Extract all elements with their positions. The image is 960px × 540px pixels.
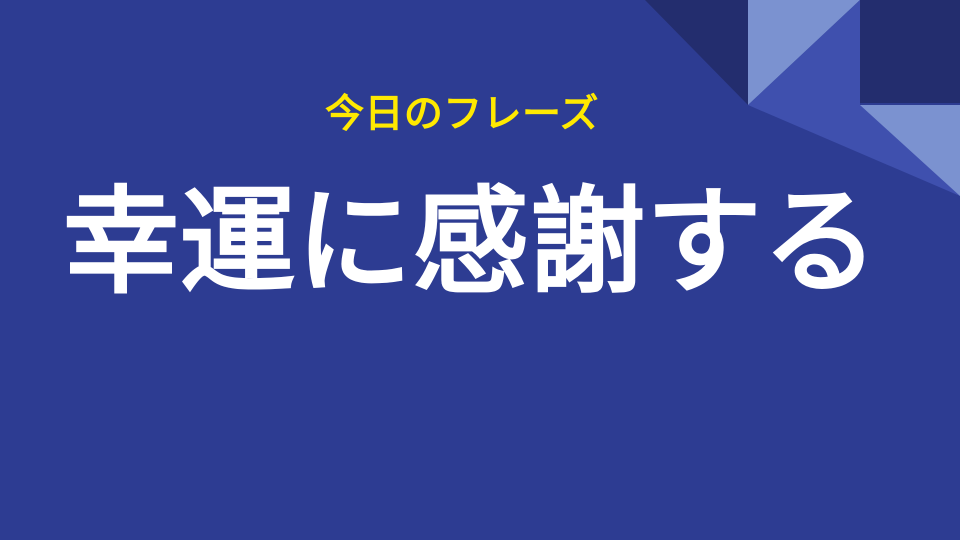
headline-text: 幸運に感謝する xyxy=(63,182,879,305)
text-stack: 今日のフレーズ 幸運に感謝する xyxy=(0,0,960,540)
subtitle-text: 今日のフレーズ xyxy=(325,93,599,138)
slide-canvas: 今日のフレーズ 幸運に感謝する xyxy=(0,0,960,540)
